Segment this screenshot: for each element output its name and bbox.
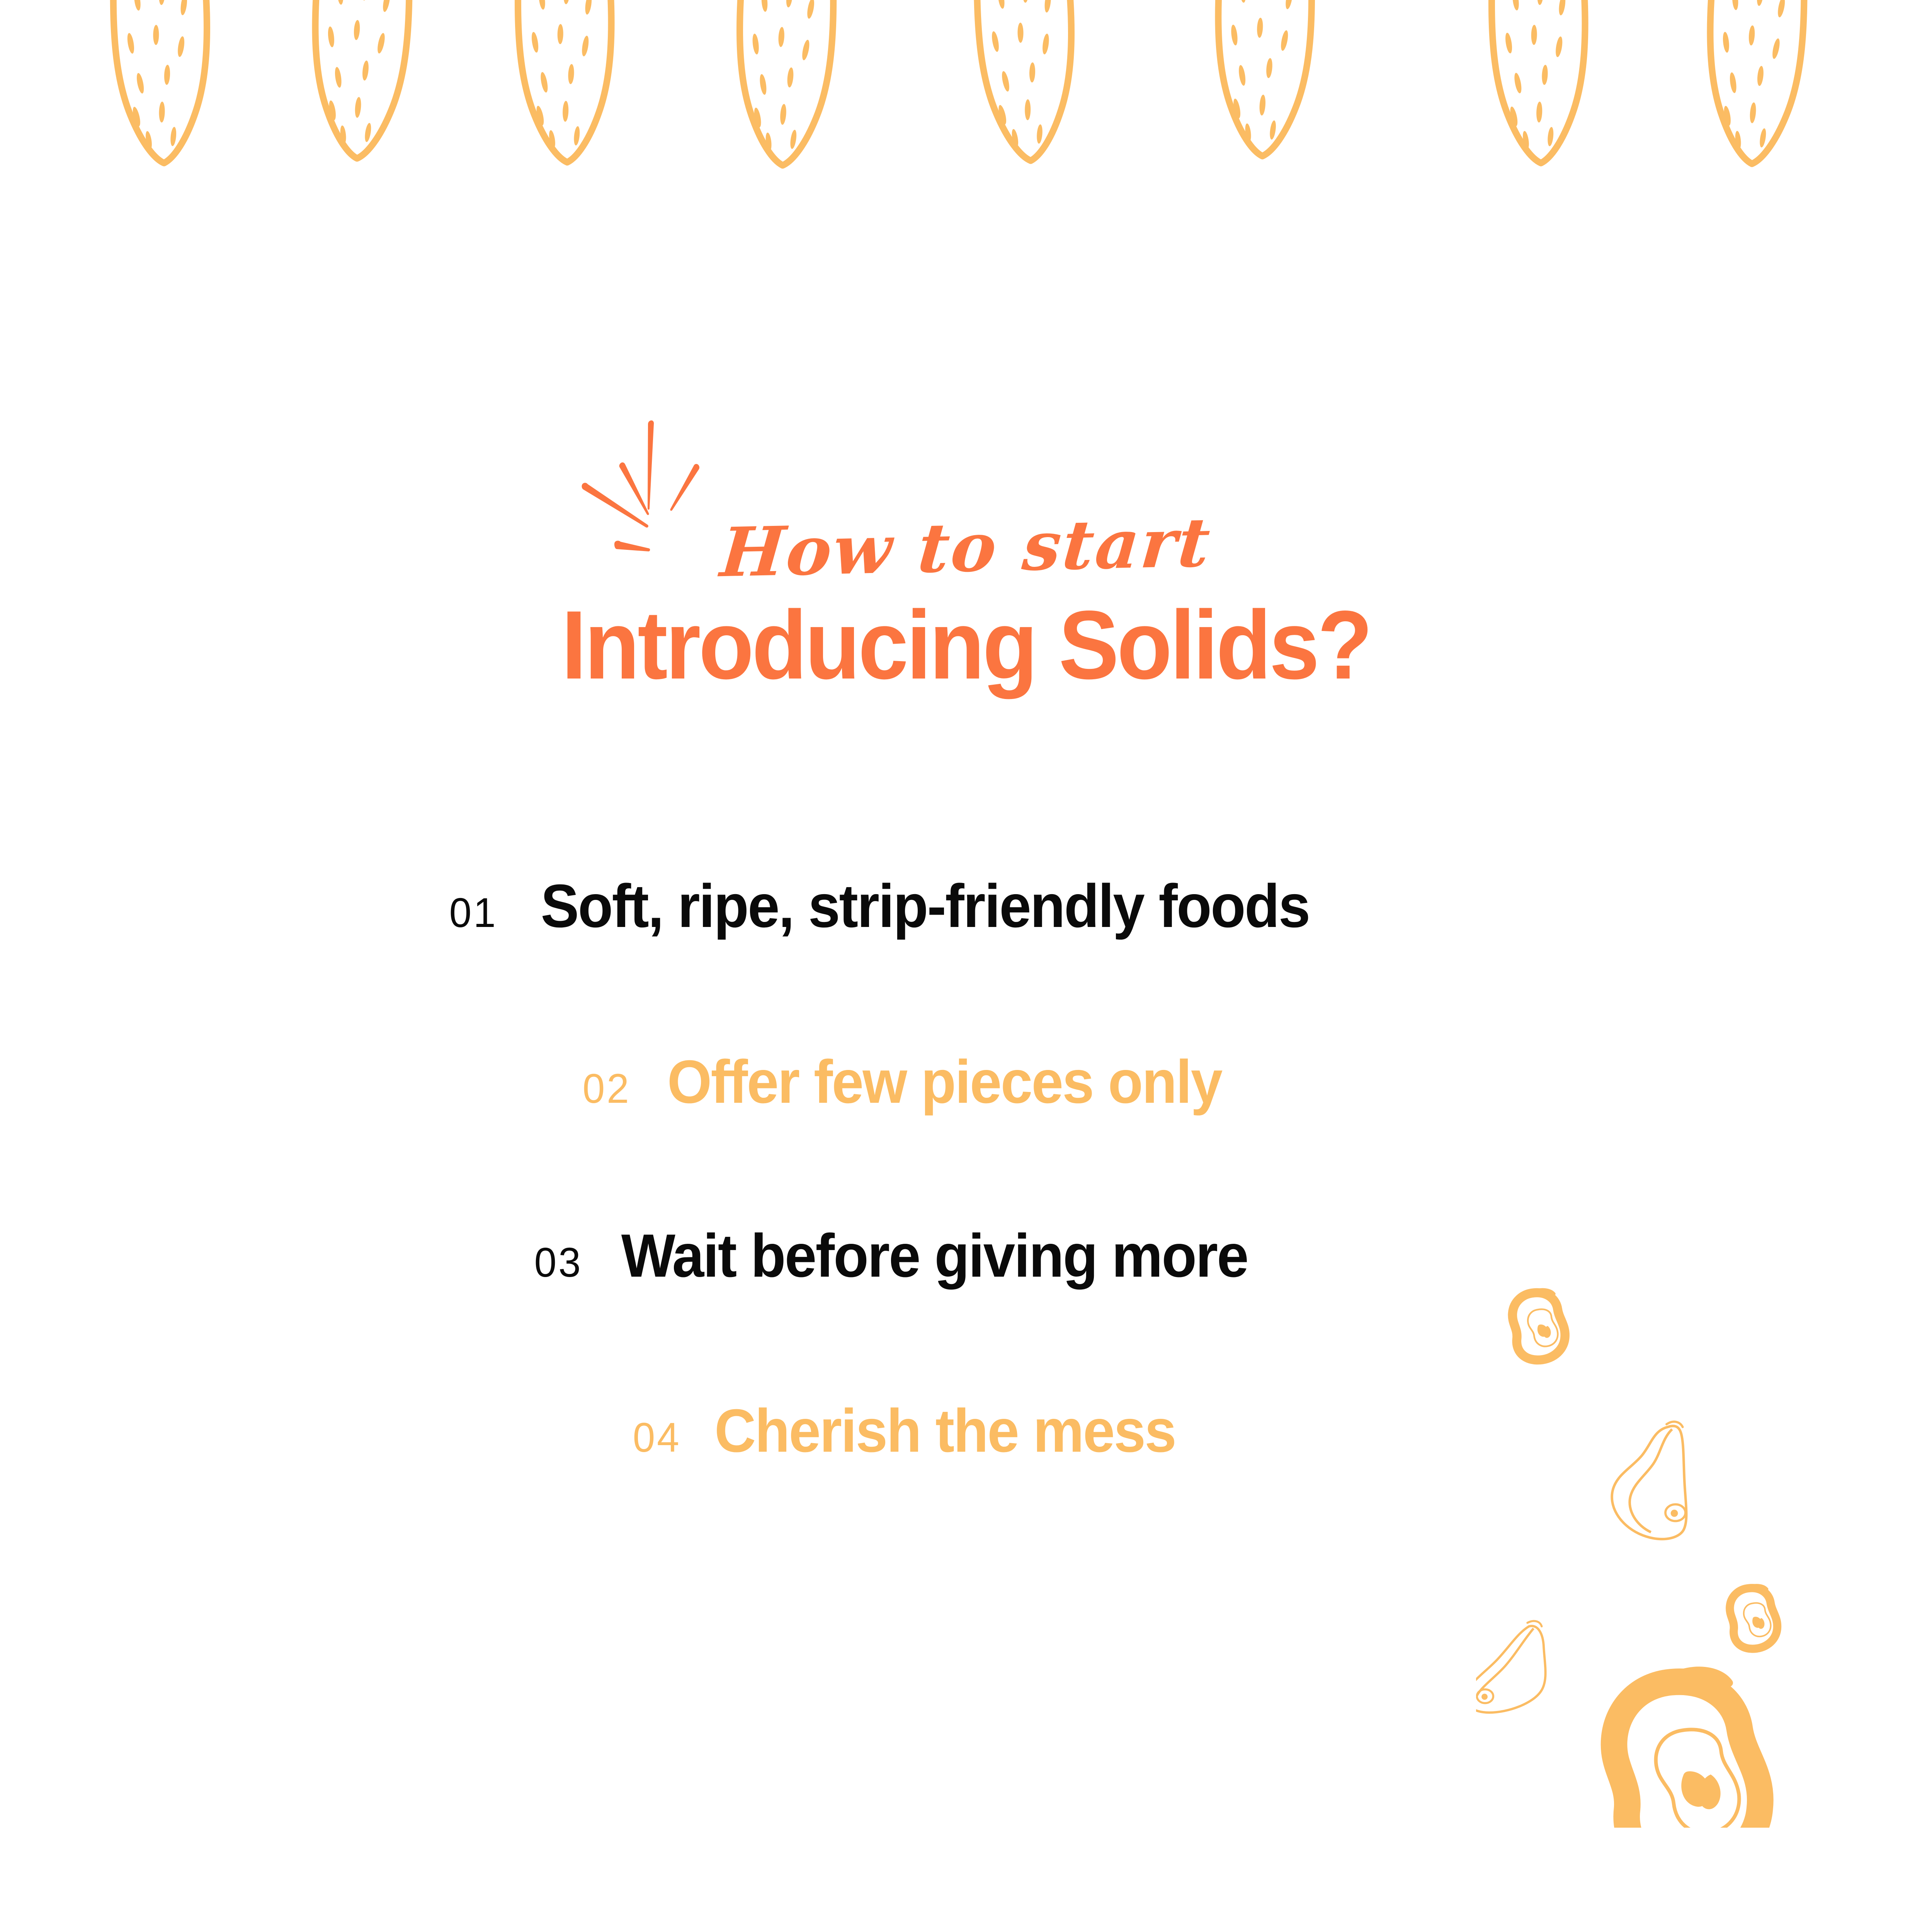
strawberry-icon-group (112, 0, 1805, 167)
step-label: Cherish the mess (714, 1396, 1175, 1466)
page-header: How to start Introducing Solids? (0, 417, 1932, 695)
step-number: 03 (534, 1238, 583, 1286)
pear-icon (1614, 1670, 1760, 1828)
step-number: 04 (633, 1413, 681, 1461)
list-item[interactable]: 02 Offer few pieces only (582, 1047, 1239, 1117)
step-number: 01 (449, 888, 498, 937)
list-item[interactable]: 04 Cherish the mess (632, 1396, 1190, 1466)
sparkle-burst-icon (556, 417, 734, 556)
strawberry-border-decoration (0, 0, 1932, 185)
step-label: Offer few pieces only (667, 1047, 1222, 1117)
list-item[interactable]: 03 Wait before giving more (533, 1221, 1268, 1291)
eyebrow-script-text: How to start (718, 509, 1214, 587)
step-label: Soft, ripe, strip-friendly foods (541, 871, 1310, 941)
pear-icon (1730, 1585, 1777, 1649)
pear-icon (1512, 1289, 1565, 1360)
pear-slice-icon (1612, 1422, 1687, 1539)
list-item[interactable]: 01 Soft, ripe, strip-friendly foods (448, 871, 1334, 941)
step-label: Wait before giving more (621, 1221, 1248, 1291)
pear-decoration-cluster (1476, 1267, 1862, 1828)
step-number: 02 (583, 1064, 631, 1112)
pear-slice-icon (1476, 1621, 1546, 1713)
page-title: Introducing Solids? (68, 595, 1864, 695)
